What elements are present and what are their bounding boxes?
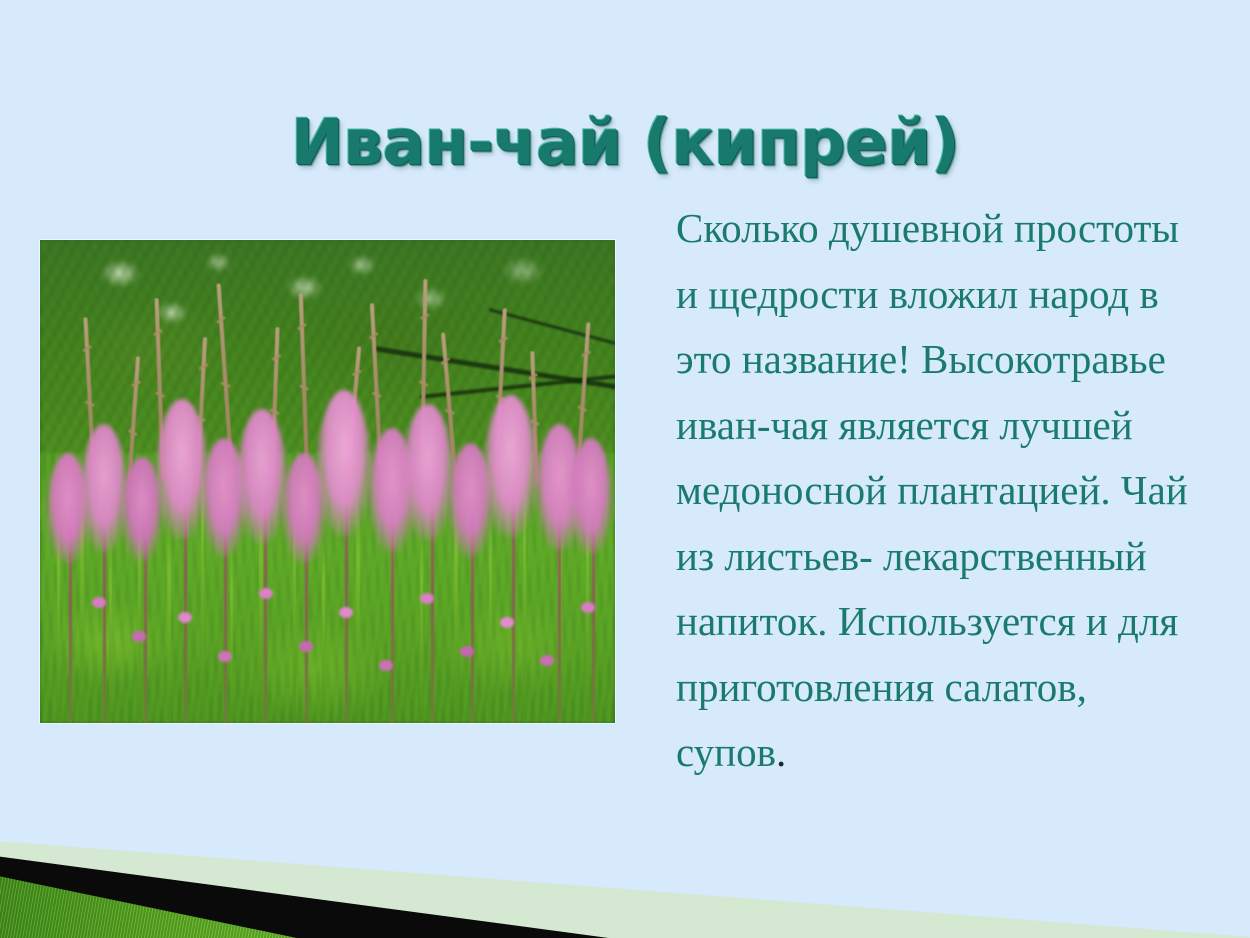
photo-canvas — [40, 240, 615, 723]
fireweed-photo — [40, 240, 615, 723]
body-paragraph-text: Сколько душевной простоты и щедрости вло… — [676, 205, 1188, 775]
final-period: . — [776, 729, 786, 775]
page-title: Иван-чай (кипрей) — [0, 110, 1250, 176]
presentation-slide: Иван-чай (кипрей) — [0, 0, 1250, 938]
body-paragraph: Сколько душевной простоты и щедрости вло… — [676, 196, 1206, 786]
